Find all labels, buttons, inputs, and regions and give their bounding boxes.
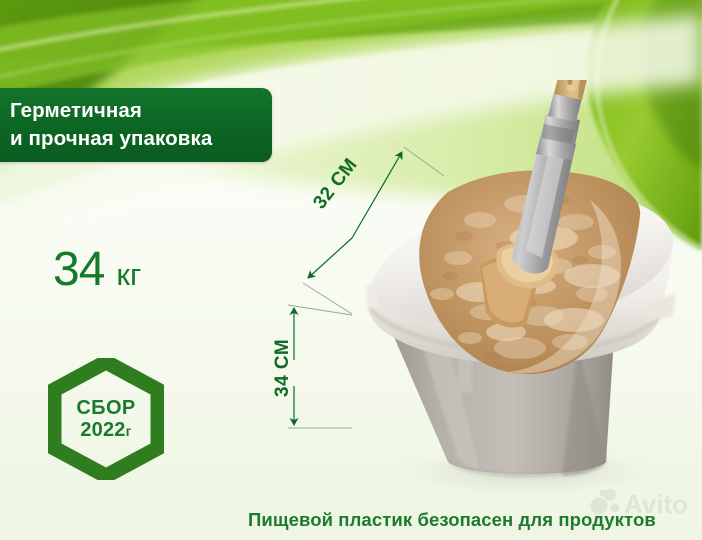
sealed-packaging-banner: Герметичная и прочная упаковка — [0, 88, 272, 162]
badge-line-2: 2022г — [80, 419, 131, 441]
weight-value: 34 — [53, 246, 104, 294]
promo-image: Герметичная и прочная упаковка 34 кг СБО… — [0, 0, 702, 540]
badge-year: 2022 — [80, 419, 125, 441]
weight-unit: кг — [116, 259, 141, 290]
weight-label: 34 кг — [53, 246, 141, 294]
badge-year-suffix: г — [126, 423, 132, 439]
harvest-year-badge: СБОР 2022г — [48, 358, 164, 480]
badge-line-1: СБОР — [76, 397, 135, 419]
food-safe-caption: Пищевой пластик безопасен для продуктов — [248, 509, 656, 531]
banner-line-1: Герметичная — [10, 97, 272, 125]
dimension-height-label: 34 СМ — [272, 339, 294, 397]
banner-line-2: и прочная упаковка — [10, 125, 272, 153]
product-photo-bucket — [330, 80, 702, 500]
